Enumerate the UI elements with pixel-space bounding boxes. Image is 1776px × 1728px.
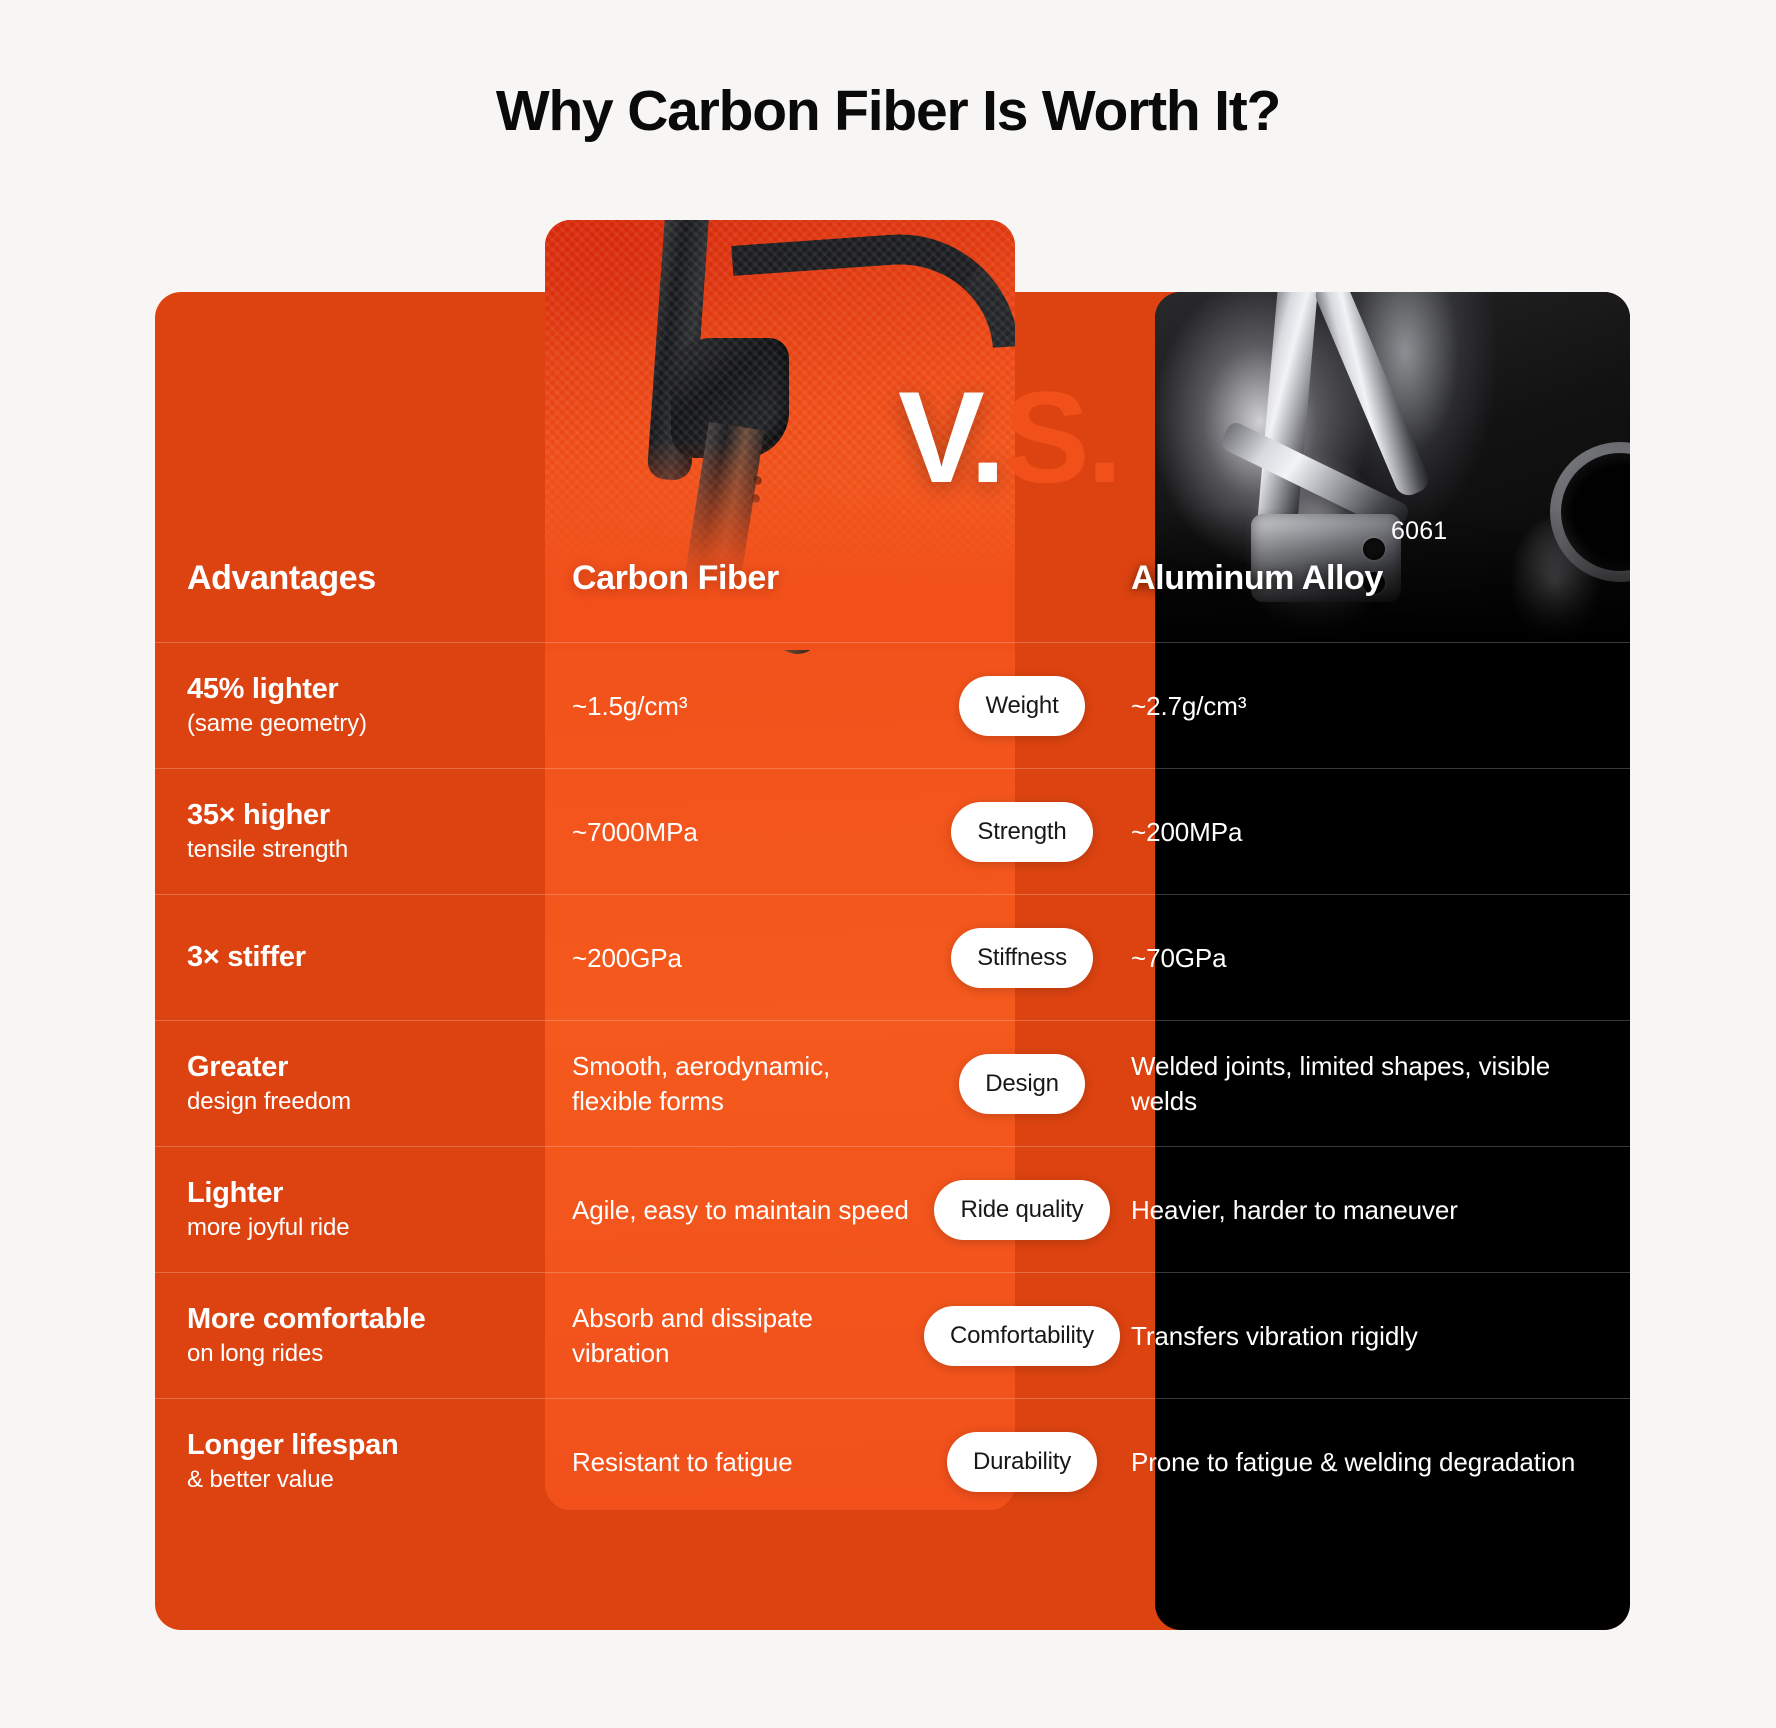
- cell-carbon-fiber-value: ~1.5g/cm³: [572, 643, 912, 769]
- cell-advantage: More comfortableon long rides: [187, 1273, 547, 1399]
- cell-aluminum-value: Transfers vibration rigidly: [1131, 1273, 1601, 1399]
- advantage-headline: More comfortable: [187, 1303, 547, 1336]
- advantage-subtext: on long rides: [187, 1340, 547, 1369]
- advantage-headline: Longer lifespan: [187, 1429, 547, 1462]
- cell-advantage: Greaterdesign freedom: [187, 1021, 547, 1147]
- cell-advantage: 35× highertensile strength: [187, 769, 547, 895]
- advantage-subtext: more joyful ride: [187, 1214, 547, 1243]
- table-row: 45% lighter(same geometry)~1.5g/cm³Weigh…: [155, 642, 1630, 768]
- cell-advantage: Lightermore joyful ride: [187, 1147, 547, 1273]
- cell-carbon-fiber-value: ~200GPa: [572, 895, 912, 1021]
- advantage-headline: Greater: [187, 1051, 547, 1084]
- advantage-headline: 3× stiffer: [187, 941, 547, 974]
- table-row: Greaterdesign freedomSmooth, aerodynamic…: [155, 1020, 1630, 1146]
- advantage-subtext: (same geometry): [187, 710, 547, 739]
- cell-aluminum-value: Prone to fatigue & welding degradation: [1131, 1399, 1601, 1525]
- header-carbon-fiber: Carbon Fiber: [572, 559, 779, 598]
- page-title: Why Carbon Fiber Is Worth It?: [0, 78, 1776, 144]
- cell-carbon-fiber-value: Absorb and dissipate vibration: [572, 1273, 912, 1399]
- table-row: More comfortableon long ridesAbsorb and …: [155, 1272, 1630, 1398]
- cell-carbon-fiber-value: ~7000MPa: [572, 769, 912, 895]
- advantage-subtext: tensile strength: [187, 836, 547, 865]
- cell-advantage: Longer lifespan& better value: [187, 1399, 547, 1525]
- cell-advantage: 3× stiffer: [187, 895, 547, 1021]
- cell-aluminum-value: ~70GPa: [1131, 895, 1601, 1021]
- table-row: 35× highertensile strength~7000MPaStreng…: [155, 768, 1630, 894]
- table-row: 3× stiffer~200GPaStiffness~70GPa: [155, 894, 1630, 1020]
- comparison-table: Advantages Carbon Fiber Aluminum Alloy 6…: [155, 292, 1630, 1630]
- property-pill[interactable]: Strength: [951, 802, 1092, 862]
- table-header-row: Advantages Carbon Fiber Aluminum Alloy 6…: [155, 537, 1630, 642]
- header-aluminum-alloy: Aluminum Alloy: [1131, 559, 1383, 598]
- property-pill[interactable]: Weight: [959, 676, 1084, 736]
- property-pill[interactable]: Stiffness: [951, 928, 1093, 988]
- cell-carbon-fiber-value: Smooth, aerodynamic, flexible forms: [572, 1021, 912, 1147]
- advantage-subtext: & better value: [187, 1466, 547, 1495]
- cell-property: Stiffness: [912, 895, 1132, 1021]
- cell-aluminum-value: Welded joints, limited shapes, visible w…: [1131, 1021, 1601, 1147]
- cell-aluminum-value: ~200MPa: [1131, 769, 1601, 895]
- cell-aluminum-value: Heavier, harder to maneuver: [1131, 1147, 1601, 1273]
- table-body: 45% lighter(same geometry)~1.5g/cm³Weigh…: [155, 642, 1630, 1524]
- cell-property: Design: [912, 1021, 1132, 1147]
- header-aluminum-grade: 6061: [1391, 517, 1447, 546]
- cell-property: Durability: [912, 1399, 1132, 1525]
- cell-property: Ride quality: [912, 1147, 1132, 1273]
- infographic-root: Why Carbon Fiber Is Worth It?: [0, 0, 1776, 1728]
- advantage-headline: 45% lighter: [187, 673, 547, 706]
- table-row: Longer lifespan& better valueResistant t…: [155, 1398, 1630, 1524]
- cell-aluminum-value: ~2.7g/cm³: [1131, 643, 1601, 769]
- cell-property: Strength: [912, 769, 1132, 895]
- table-row: Lightermore joyful rideAgile, easy to ma…: [155, 1146, 1630, 1272]
- cell-property: Comfortability: [912, 1273, 1132, 1399]
- cell-carbon-fiber-value: Resistant to fatigue: [572, 1399, 912, 1525]
- property-pill[interactable]: Durability: [947, 1432, 1097, 1492]
- cell-carbon-fiber-value: Agile, easy to maintain speed: [572, 1147, 912, 1273]
- property-pill[interactable]: Comfortability: [924, 1306, 1120, 1366]
- advantage-headline: Lighter: [187, 1177, 547, 1210]
- advantage-subtext: design freedom: [187, 1088, 547, 1117]
- cell-property: Weight: [912, 643, 1132, 769]
- property-pill[interactable]: Ride quality: [934, 1180, 1109, 1240]
- header-advantages: Advantages: [187, 559, 376, 598]
- cell-advantage: 45% lighter(same geometry): [187, 643, 547, 769]
- advantage-headline: 35× higher: [187, 799, 547, 832]
- property-pill[interactable]: Design: [959, 1054, 1085, 1114]
